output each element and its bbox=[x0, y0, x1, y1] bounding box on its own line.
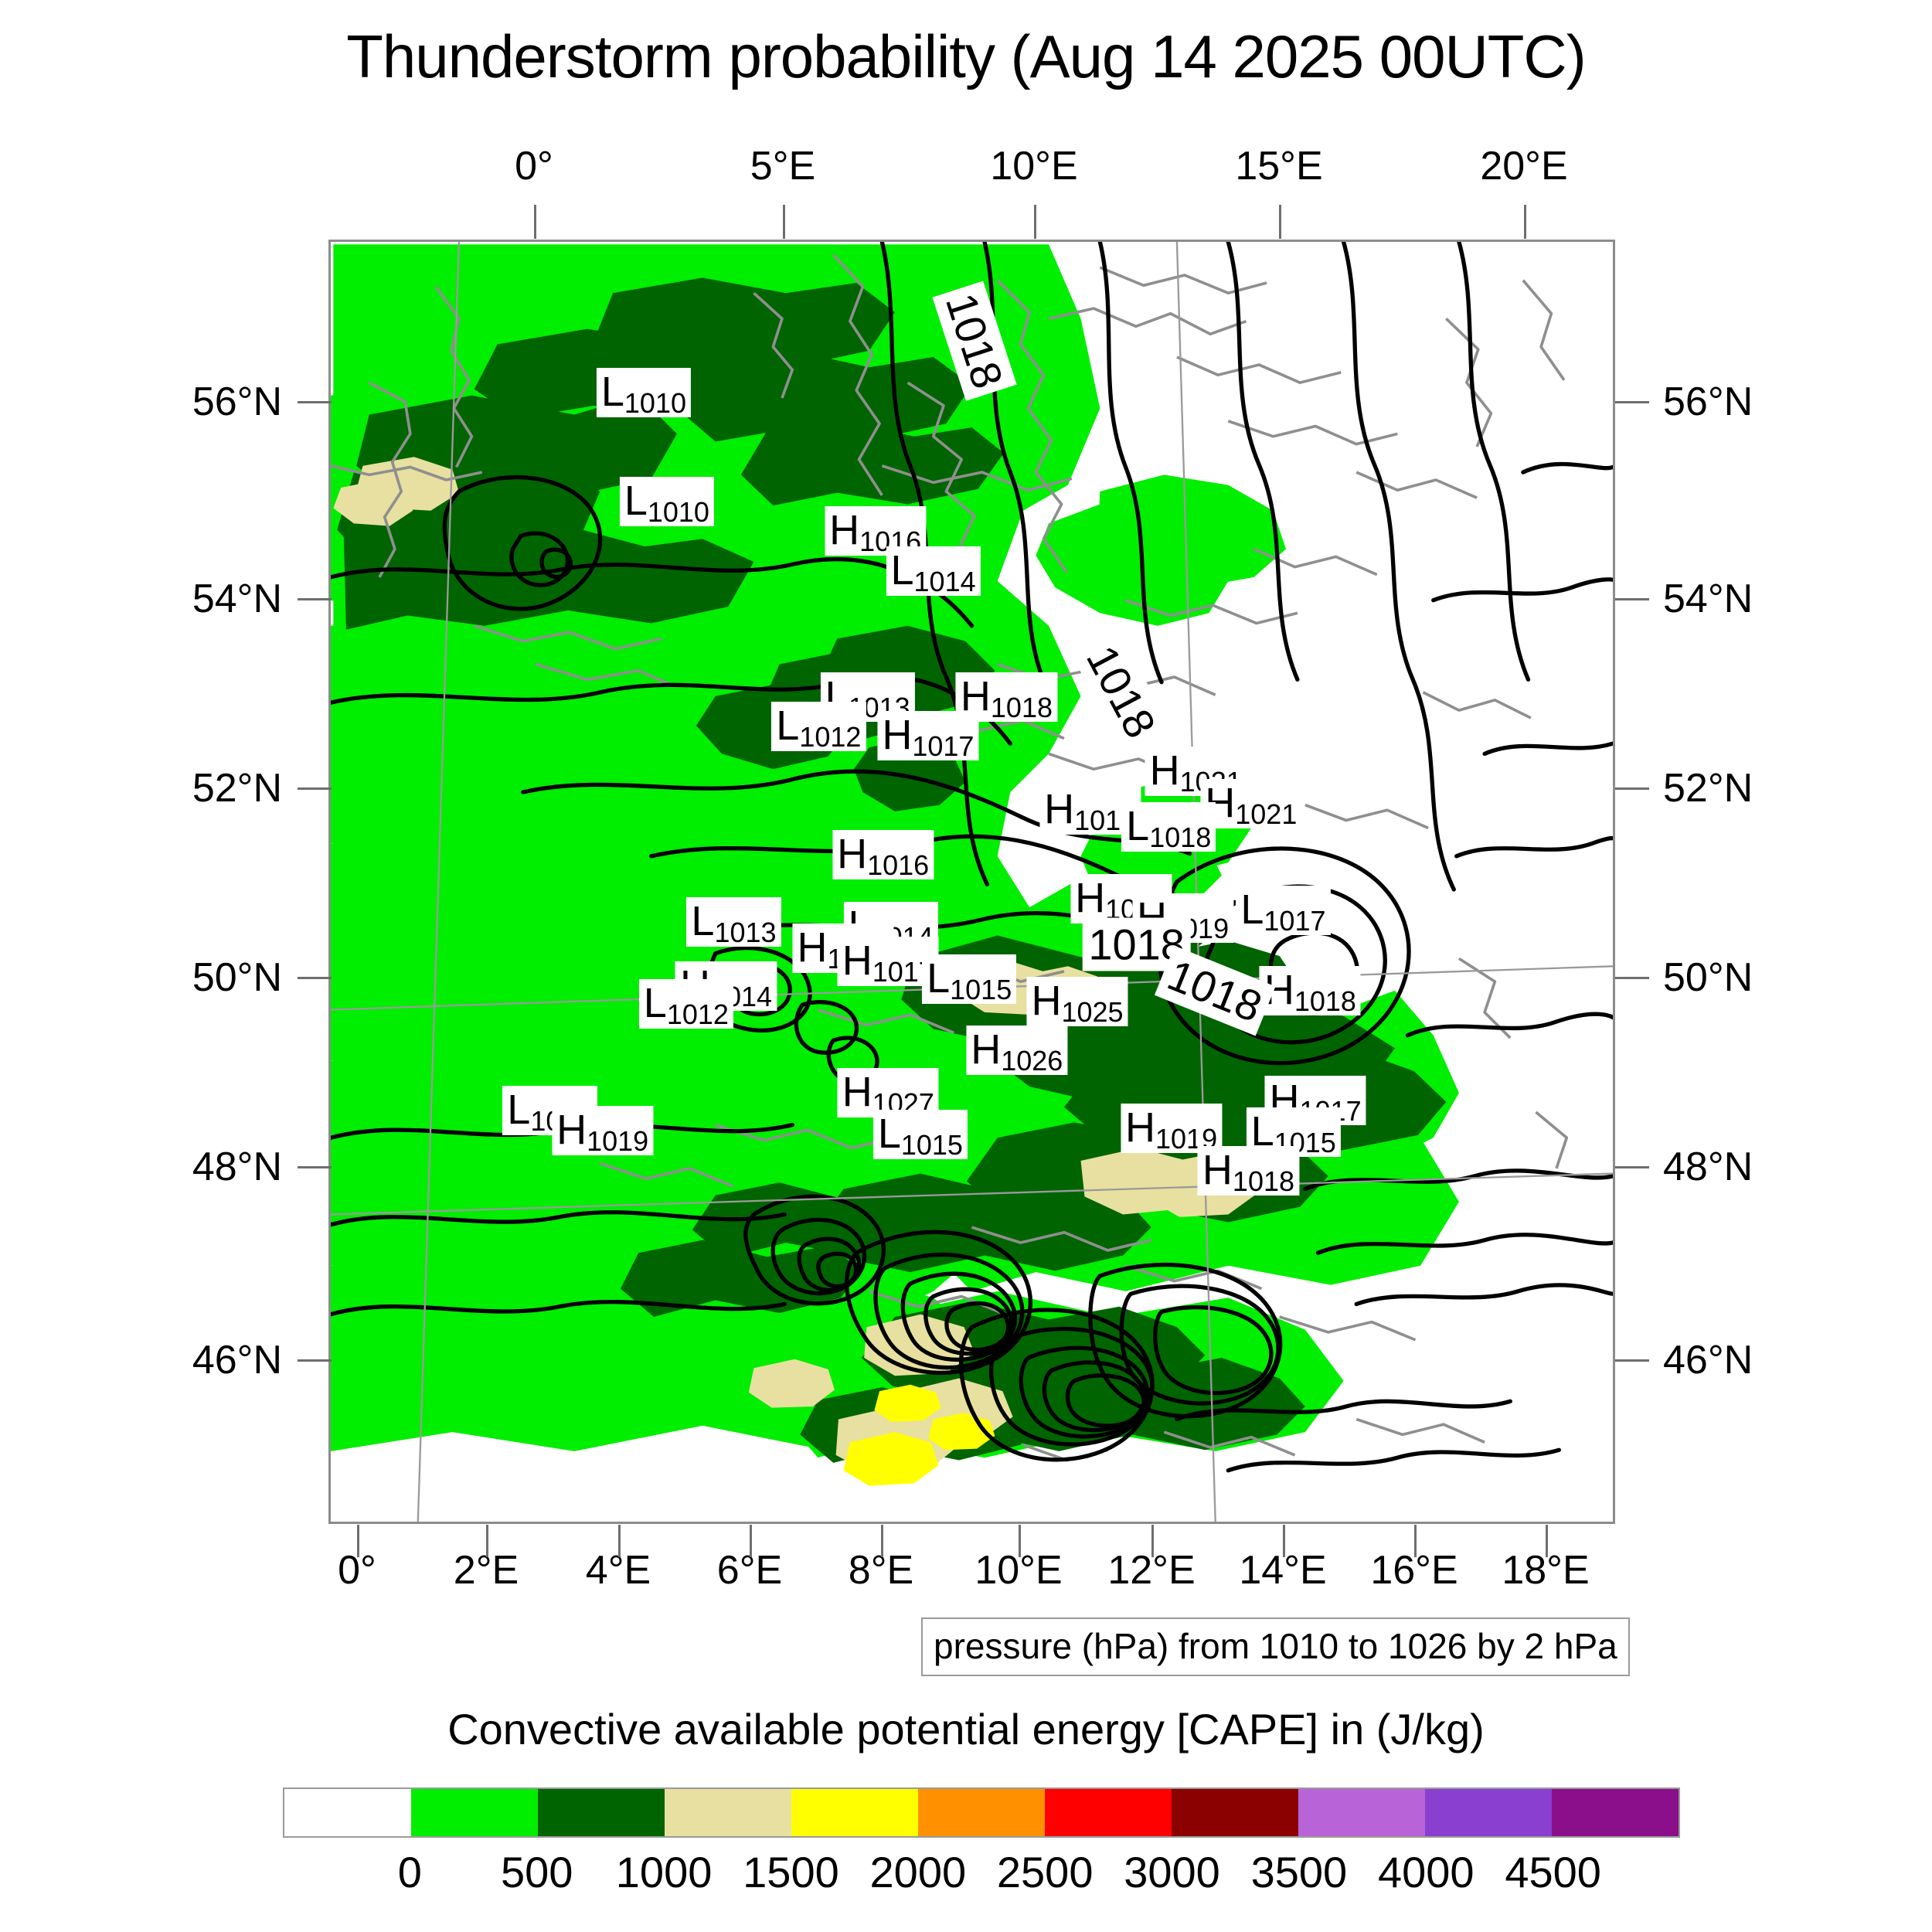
top-axis-tick-4: 20°E bbox=[1480, 143, 1567, 189]
pressure-center-label: H1019 bbox=[552, 1106, 653, 1155]
pressure-center-value: 1026 bbox=[1001, 1045, 1063, 1077]
right-tick-mark bbox=[1615, 1359, 1649, 1362]
colorbar-swatch-9 bbox=[1425, 1789, 1552, 1836]
right-axis-tick-4: 48°N bbox=[1663, 1144, 1753, 1190]
colorbar-tick-2000: 2000 bbox=[870, 1847, 967, 1897]
pressure-center-type: L bbox=[507, 1087, 530, 1133]
colorbar-swatch-4 bbox=[791, 1789, 918, 1836]
bottom-tick-mark bbox=[1414, 1525, 1417, 1557]
pressure-center-value: 1010 bbox=[648, 496, 709, 528]
colorbar-swatch-6 bbox=[1045, 1789, 1172, 1836]
pressure-center-value: 1012 bbox=[667, 998, 729, 1030]
top-axis-tick-1: 5°E bbox=[750, 143, 815, 189]
pressure-center-type: L bbox=[1240, 886, 1264, 933]
colorbar-swatch-3 bbox=[665, 1789, 791, 1836]
pressure-center-label: L1013 bbox=[686, 897, 781, 947]
pressure-center-label: H1016 bbox=[832, 830, 934, 879]
pressure-center-label: L1010 bbox=[597, 368, 691, 417]
right-axis-tick-1: 54°N bbox=[1663, 576, 1753, 622]
left-axis-tick-2: 52°N bbox=[120, 765, 282, 811]
pressure-center-type: L bbox=[776, 702, 799, 749]
pressure-center-type: L bbox=[601, 369, 624, 415]
pressure-center-type: H bbox=[842, 1069, 872, 1115]
top-tick-mark bbox=[534, 205, 536, 239]
left-tick-mark bbox=[298, 401, 332, 403]
bottom-tick-mark bbox=[1019, 1525, 1021, 1557]
colorbar-swatch-1 bbox=[411, 1789, 538, 1836]
top-axis-tick-3: 15°E bbox=[1235, 143, 1322, 189]
pressure-center-label: L1012 bbox=[771, 702, 866, 751]
pressure-center-label: L1018 bbox=[1121, 802, 1216, 852]
pressure-center-type: H bbox=[842, 937, 872, 984]
top-axis-tick-2: 10°E bbox=[990, 143, 1077, 189]
bottom-tick-mark bbox=[1546, 1525, 1548, 1557]
right-axis-tick-2: 52°N bbox=[1663, 765, 1753, 811]
pressure-center-type: H bbox=[1075, 875, 1105, 921]
left-axis-tick-4: 48°N bbox=[120, 1144, 282, 1190]
pressure-center-value: 1017 bbox=[912, 730, 974, 762]
colorbar-swatch-8 bbox=[1298, 1789, 1425, 1836]
left-axis-tick-0: 56°N bbox=[120, 379, 282, 425]
colorbar-swatch-2 bbox=[538, 1789, 665, 1836]
pressure-center-type: L bbox=[1126, 803, 1149, 849]
pressure-center-label: H1026 bbox=[966, 1026, 1067, 1075]
map-canvas bbox=[331, 242, 1613, 1522]
colorbar-tick-3500: 3500 bbox=[1251, 1847, 1348, 1897]
colorbar-swatch-7 bbox=[1172, 1789, 1298, 1836]
right-tick-mark bbox=[1615, 401, 1649, 403]
right-axis-tick-3: 50°N bbox=[1663, 954, 1753, 1001]
pressure-center-value: 1019 bbox=[587, 1125, 648, 1157]
pressure-center-type: H bbox=[1044, 786, 1074, 832]
map-plot-area[interactable] bbox=[328, 240, 1615, 1524]
colorbar-swatch-5 bbox=[918, 1789, 1045, 1836]
page-title: Thunderstorm probability (Aug 14 2025 00… bbox=[0, 22, 1932, 92]
left-axis-tick-5: 46°N bbox=[120, 1337, 282, 1383]
pressure-center-type: L bbox=[927, 955, 950, 1002]
left-axis-tick-3: 50°N bbox=[120, 954, 282, 1001]
left-tick-mark bbox=[298, 1166, 332, 1168]
pressure-center-type: L bbox=[624, 478, 648, 524]
pressure-center-type: H bbox=[829, 507, 859, 553]
pressure-center-value: 1013 bbox=[714, 917, 776, 948]
pressure-legend-box: pressure (hPa) from 1010 to 1026 by 2 hP… bbox=[921, 1617, 1630, 1676]
colorbar-swatch-0 bbox=[284, 1789, 411, 1836]
bottom-tick-mark bbox=[750, 1525, 752, 1557]
pressure-center-type: L bbox=[644, 980, 667, 1026]
colorbar-tick-2500: 2500 bbox=[997, 1847, 1094, 1897]
colorbar-tick-4500: 4500 bbox=[1505, 1847, 1601, 1897]
pressure-center-type: H bbox=[797, 924, 827, 971]
pressure-center-type: L bbox=[878, 1111, 901, 1157]
left-axis-tick-1: 54°N bbox=[120, 576, 282, 622]
right-axis-tick-0: 56°N bbox=[1663, 379, 1753, 425]
right-axis-tick-5: 46°N bbox=[1663, 1337, 1753, 1383]
pressure-center-value: 1016 bbox=[867, 849, 929, 881]
pressure-center-label: H1018 bbox=[1198, 1146, 1299, 1196]
right-tick-mark bbox=[1615, 977, 1649, 979]
pressure-center-label: H1018 bbox=[1260, 966, 1361, 1015]
top-tick-mark bbox=[1524, 205, 1526, 239]
left-tick-mark bbox=[298, 598, 332, 600]
pressure-center-type: H bbox=[1150, 747, 1180, 794]
pressure-center-type: H bbox=[971, 1026, 1001, 1073]
pressure-center-type: H bbox=[1202, 1147, 1233, 1193]
left-tick-mark bbox=[298, 1359, 332, 1362]
pressure-center-value: 1018 bbox=[1233, 1165, 1294, 1197]
pressure-center-label: L1014 bbox=[886, 546, 980, 596]
colorbar-tick-3000: 3000 bbox=[1124, 1847, 1220, 1897]
right-tick-mark bbox=[1615, 598, 1649, 600]
right-tick-mark bbox=[1615, 1166, 1649, 1168]
bottom-tick-mark bbox=[618, 1525, 621, 1557]
top-tick-mark bbox=[783, 205, 785, 239]
colorbar-tick-1500: 1500 bbox=[743, 1847, 839, 1897]
colorbar-swatch-10 bbox=[1552, 1789, 1679, 1836]
pressure-center-type: H bbox=[1125, 1104, 1155, 1151]
pressure-center-value: 1015 bbox=[901, 1129, 963, 1161]
pressure-center-label: H1017 bbox=[877, 711, 978, 760]
pressure-center-value: 1014 bbox=[914, 566, 976, 597]
pressure-center-value: 1017 bbox=[1264, 905, 1325, 937]
bottom-tick-mark bbox=[881, 1525, 883, 1557]
pressure-center-label: L1015 bbox=[922, 954, 1016, 1004]
pressure-center-label: L1012 bbox=[639, 979, 733, 1029]
pressure-center-label: L1017 bbox=[1236, 886, 1330, 935]
pressure-center-value: 1025 bbox=[1061, 996, 1123, 1028]
bottom-tick-mark bbox=[1151, 1525, 1154, 1557]
pressure-center-type: H bbox=[837, 831, 867, 877]
bottom-tick-mark bbox=[1283, 1525, 1285, 1557]
pressure-center-type: H bbox=[882, 712, 912, 758]
right-tick-mark bbox=[1615, 787, 1649, 790]
colorbar-tick-0: 0 bbox=[398, 1847, 422, 1897]
top-axis-tick-0: 0° bbox=[515, 143, 553, 189]
colorbar-tick-4000: 4000 bbox=[1378, 1847, 1475, 1897]
bottom-tick-mark bbox=[357, 1525, 359, 1557]
pressure-center-label: L1015 bbox=[873, 1110, 968, 1159]
pressure-center-label: H1025 bbox=[1026, 977, 1128, 1026]
pressure-center-value: 1015 bbox=[950, 974, 1012, 1005]
top-tick-mark bbox=[1279, 205, 1281, 239]
left-tick-mark bbox=[298, 977, 332, 979]
pressure-center-value: 1018 bbox=[991, 692, 1053, 723]
pressure-center-type: L bbox=[890, 547, 913, 594]
pressure-center-type: H bbox=[1031, 978, 1061, 1024]
pressure-center-value: 1010 bbox=[624, 387, 686, 419]
pressure-center-value: 1018 bbox=[1149, 821, 1211, 853]
colorbar-title: Convective available potential energy [C… bbox=[0, 1704, 1932, 1754]
left-tick-mark bbox=[298, 787, 332, 790]
top-tick-mark bbox=[1034, 205, 1036, 239]
pressure-center-value: 1021 bbox=[1235, 798, 1297, 830]
colorbar-tick-1000: 1000 bbox=[616, 1847, 713, 1897]
colorbar-tick-labels: 050010001500200025003000350040004500 bbox=[283, 1847, 1680, 1901]
colorbar[interactable] bbox=[283, 1787, 1680, 1838]
pressure-center-type: H bbox=[556, 1107, 587, 1153]
pressure-center-value: 1018 bbox=[1294, 985, 1356, 1017]
pressure-center-label: L1010 bbox=[620, 477, 714, 526]
bottom-tick-mark bbox=[486, 1525, 488, 1557]
pressure-center-type: L bbox=[691, 898, 714, 944]
colorbar-tick-500: 500 bbox=[501, 1847, 573, 1897]
pressure-center-value: 1012 bbox=[799, 721, 861, 753]
